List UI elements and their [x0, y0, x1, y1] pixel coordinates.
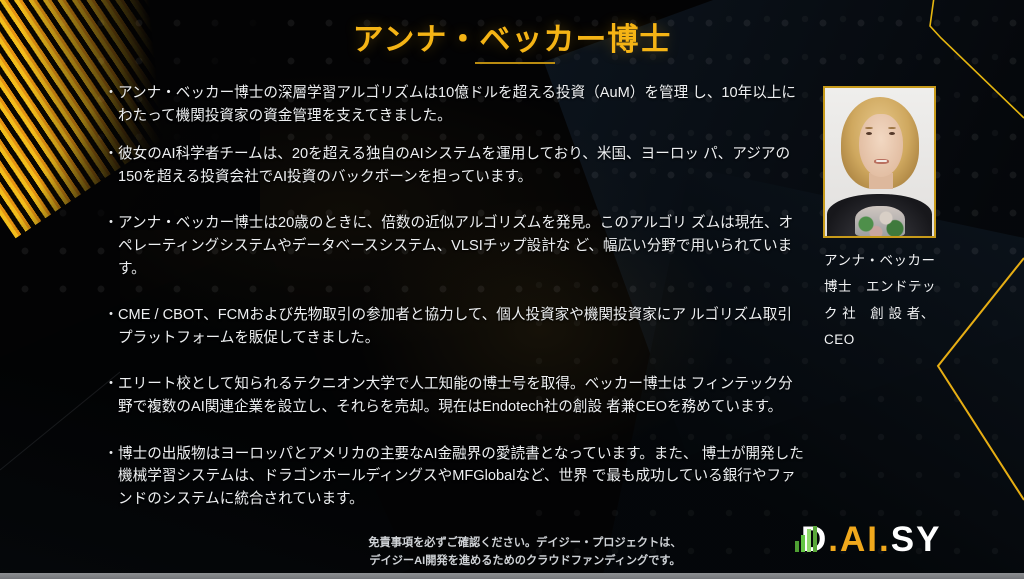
photo-eyebrow-left [865, 127, 873, 129]
list-item-text: アンナ・ベッカー博士は20歳のときに、倍数の近似アルゴリズムを発見。このアルゴリ… [118, 212, 804, 280]
list-item-line: 者兼CEOを務めています。 [606, 399, 782, 415]
bar-chart-icon [795, 526, 817, 552]
bottom-edge-strip [0, 573, 1024, 579]
list-item-text: アンナ・ベッカー博士の深層学習アルゴリズムは10億ドルを超える投資（AuM）を管… [118, 82, 804, 127]
bullet-list: ・ アンナ・ベッカー博士の深層学習アルゴリズムは10億ドルを超える投資（AuM）… [104, 82, 804, 527]
profile-caption-line: ク 社 創 設 者、 [824, 301, 984, 327]
list-item: ・ エリート校として知られるテクニオン大学で人工知能の博士号を取得。ベッカー博士… [104, 373, 804, 418]
list-item-text: エリート校として知られるテクニオン大学で人工知能の博士号を取得。ベッカー博士は … [118, 373, 804, 418]
list-item-text: CME / CBOT、FCMおよび先物取引の参加者と協力して、個人投資家や機関投… [118, 304, 804, 349]
photo-eyebrow-right [888, 127, 896, 129]
photo-eye-right [889, 132, 895, 135]
photo-scarf [855, 206, 905, 236]
list-item: ・ 彼女のAI科学者チームは、20を超える独自のAIシステムを運用しており、米国… [104, 143, 804, 188]
profile-photo-frame [823, 86, 936, 238]
title-underline-rule [475, 62, 555, 64]
profile-photo [825, 88, 934, 236]
profile-caption-line: アンナ・ベッカー [824, 248, 984, 274]
list-item: ・ 博士の出版物はヨーロッパとアメリカの主要なAI金融界の愛読書となっています。… [104, 443, 804, 511]
logo-wordmark: D.AI.SY [801, 522, 941, 557]
list-item-line: アンナ・ベッカー博士は20歳のときに、倍数の近似アルゴリズムを発見。このアルゴリ [118, 215, 687, 231]
profile-caption: アンナ・ベッカー 博士 エンドテッ ク 社 創 設 者、 CEO [824, 248, 984, 353]
profile-caption-line: CEO [824, 327, 984, 353]
bullet-glyph: ・ [104, 304, 118, 349]
bullet-glyph: ・ [104, 373, 118, 418]
bullet-glyph: ・ [104, 82, 118, 127]
photo-face [859, 114, 903, 177]
logo-part-sy: SY [891, 520, 942, 559]
list-item: ・ CME / CBOT、FCMおよび先物取引の参加者と協力して、個人投資家や機… [104, 304, 804, 349]
slide-canvas: アンナ・ベッカー博士 ・ アンナ・ベッカー博士の深層学習アルゴリズムは10億ドル… [0, 0, 1024, 579]
bullet-glyph: ・ [104, 443, 118, 511]
profile-caption-line: 博士 エンドテッ [824, 274, 984, 300]
list-item-line: 博士の出版物はヨーロッパとアメリカの主要なAI金融界の愛読書となっています。また… [118, 446, 698, 462]
daisy-logo: D.AI.SY [795, 517, 941, 561]
footer-line-2: デイジーAI開発を進めるためのクラウドファンディングです。 [330, 552, 720, 570]
list-item-text: 博士の出版物はヨーロッパとアメリカの主要なAI金融界の愛読書となっています。また… [118, 443, 804, 511]
list-item-text: 彼女のAI科学者チームは、20を超える独自のAIシステムを運用しており、米国、ヨ… [118, 143, 804, 188]
list-item: ・ アンナ・ベッカー博士は20歳のときに、倍数の近似アルゴリズムを発見。このアル… [104, 212, 804, 280]
list-item: ・ アンナ・ベッカー博士の深層学習アルゴリズムは10億ドルを超える投資（AuM）… [104, 82, 804, 127]
list-item-line: CME / CBOT、FCMおよび先物取引の参加者と協力して、個人投資家や機関投… [118, 307, 686, 323]
list-item-line: 彼女のAI科学者チームは、20を超える独自のAIシステムを運用しており、米国、ヨ… [118, 146, 699, 162]
footer-disclaimer: 免責事項を必ずご確認ください。デイジー・プロジェクトは、 デイジーAI開発を進め… [330, 534, 720, 571]
logo-part-ai: .AI. [828, 520, 890, 559]
page-title: アンナ・ベッカー博士 [0, 14, 1024, 59]
photo-mouth [874, 159, 889, 164]
bullet-glyph: ・ [104, 212, 118, 280]
list-item-line: アンナ・ベッカー博士の深層学習アルゴリズムは10億ドルを超える投資（AuM）を管… [118, 85, 688, 101]
bullet-glyph: ・ [104, 143, 118, 188]
footer-line-1: 免責事項を必ずご確認ください。デイジー・プロジェクトは、 [330, 534, 720, 552]
photo-eye-left [866, 132, 872, 135]
list-item-line: エリート校として知られるテクニオン大学で人工知能の博士号を取得。ベッカー博士は [118, 376, 687, 392]
